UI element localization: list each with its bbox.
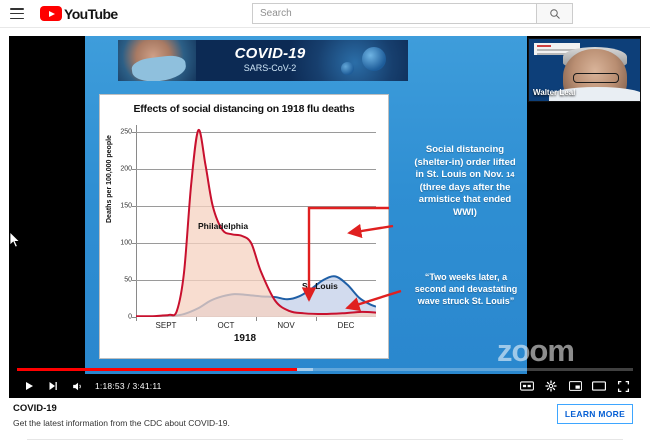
- speaker-name-label: Walter Leal: [533, 88, 575, 97]
- time-display: 1:18:53 / 3:41:11: [95, 381, 162, 391]
- volume-icon: [71, 380, 84, 393]
- x-tick-mark: [196, 317, 197, 321]
- search-button[interactable]: [537, 3, 573, 24]
- annot1-line2: (shelter-in) order lifted: [414, 157, 515, 168]
- info-panel-description: Get the latest information from the CDC …: [13, 418, 230, 428]
- annot1-line5: armistice that ended: [419, 194, 511, 205]
- x-tick-mark: [316, 317, 317, 321]
- series-label-st-louis: St. Louis: [302, 281, 338, 291]
- banner-subtitle: SARS-CoV-2: [210, 63, 330, 73]
- annot2-line2: second and devastating: [415, 284, 518, 294]
- closed-captions-icon: [520, 380, 534, 392]
- series-label-philadelphia: Philadelphia: [198, 221, 248, 231]
- y-tick-label: 100: [120, 240, 132, 247]
- y-tick-label: 250: [120, 129, 132, 136]
- x-tick-mark: [256, 317, 257, 321]
- volume-button[interactable]: [65, 375, 89, 397]
- captions-button[interactable]: [515, 375, 539, 397]
- learn-more-button[interactable]: LEARN MORE: [557, 404, 633, 424]
- banner-title: COVID-19: [210, 46, 330, 62]
- presentation-slide: COVID-19 SARS-CoV-2 Effects of social di…: [85, 36, 527, 374]
- youtube-masthead: YouTube: [0, 0, 650, 28]
- theater-mode-icon: [592, 380, 606, 392]
- chart-series-svg: [136, 125, 376, 317]
- annot1-line3a: in St. Louis on Nov.: [416, 169, 504, 180]
- control-row: 1:18:53 / 3:41:11: [9, 374, 641, 398]
- x-tick-label: NOV: [277, 321, 294, 330]
- youtube-logo-text: YouTube: [64, 6, 118, 22]
- mouse-cursor: [10, 232, 21, 248]
- y-tick-label: 200: [120, 166, 132, 173]
- zoom-watermark: zoom: [497, 335, 574, 366]
- chart-x-axis-label: 1918: [100, 333, 390, 344]
- youtube-logo[interactable]: YouTube: [40, 6, 118, 22]
- search-input-box[interactable]: [252, 3, 537, 24]
- theater-button[interactable]: [587, 375, 611, 397]
- progress-played: [17, 368, 297, 371]
- info-panel-title: COVID-19: [13, 403, 57, 414]
- youtube-watch-page: YouTube COVID-19 SARS-CoV-2: [0, 0, 650, 447]
- x-tick-label: OCT: [218, 321, 235, 330]
- player-controls: 1:18:53 / 3:41:11: [9, 368, 641, 398]
- annotation-second-wave: “Two weeks later, a second and devastati…: [407, 272, 525, 308]
- video-player[interactable]: COVID-19 SARS-CoV-2 Effects of social di…: [9, 36, 641, 398]
- speaker-glasses: [573, 73, 619, 83]
- masked-person-image: [118, 40, 196, 81]
- x-tick-mark: [136, 317, 137, 321]
- gear-icon: [545, 380, 557, 392]
- fullscreen-button[interactable]: [611, 375, 635, 397]
- covid-info-panel: COVID-19 Get the latest information from…: [9, 400, 641, 442]
- progress-bar[interactable]: [17, 368, 633, 371]
- search-input[interactable]: [260, 8, 536, 19]
- annot2-line1: “Two weeks later, a: [425, 272, 507, 282]
- miniplayer-button[interactable]: [563, 375, 587, 397]
- annot1-line3b: 14: [506, 170, 514, 179]
- webcam-overlay[interactable]: Walter Leal: [528, 38, 641, 102]
- play-button[interactable]: [17, 375, 41, 397]
- chart-title: Effects of social distancing on 1918 flu…: [100, 103, 388, 115]
- miniplayer-icon: [569, 380, 582, 392]
- covid-banner: COVID-19 SARS-CoV-2: [118, 40, 408, 81]
- chart-card: Effects of social distancing on 1918 flu…: [99, 94, 389, 359]
- chart-y-axis-label: Deaths per 100,000 people: [106, 135, 113, 223]
- annotation-social-distancing: Social distancing (shelter-in) order lif…: [403, 144, 527, 219]
- y-tick-label: 150: [120, 203, 132, 210]
- settings-button[interactable]: [539, 375, 563, 397]
- youtube-play-icon: [40, 6, 62, 21]
- play-icon: [23, 380, 35, 392]
- next-track-icon: [47, 380, 59, 392]
- info-panel-divider: [27, 439, 623, 440]
- annot1-line6: WWI): [453, 207, 477, 218]
- next-button[interactable]: [41, 375, 65, 397]
- x-tick-label: DEC: [338, 321, 355, 330]
- annot1-line1: Social distancing: [426, 144, 504, 155]
- annot2-line3: wave struck St. Louis”: [418, 296, 515, 306]
- hamburger-menu-icon[interactable]: [10, 8, 24, 19]
- chart-plot-area: 050100150200250 SEPTOCTNOVDEC Philadelph…: [136, 125, 376, 317]
- search-bar: [252, 3, 573, 24]
- fullscreen-icon: [617, 380, 630, 393]
- y-tick-label: 50: [124, 277, 132, 284]
- right-controls: [515, 375, 635, 397]
- x-tick-label: SEPT: [156, 321, 177, 330]
- annot1-line4: (three days after the: [420, 182, 511, 193]
- banner-text: COVID-19 SARS-CoV-2: [210, 46, 330, 73]
- search-icon: [549, 8, 561, 20]
